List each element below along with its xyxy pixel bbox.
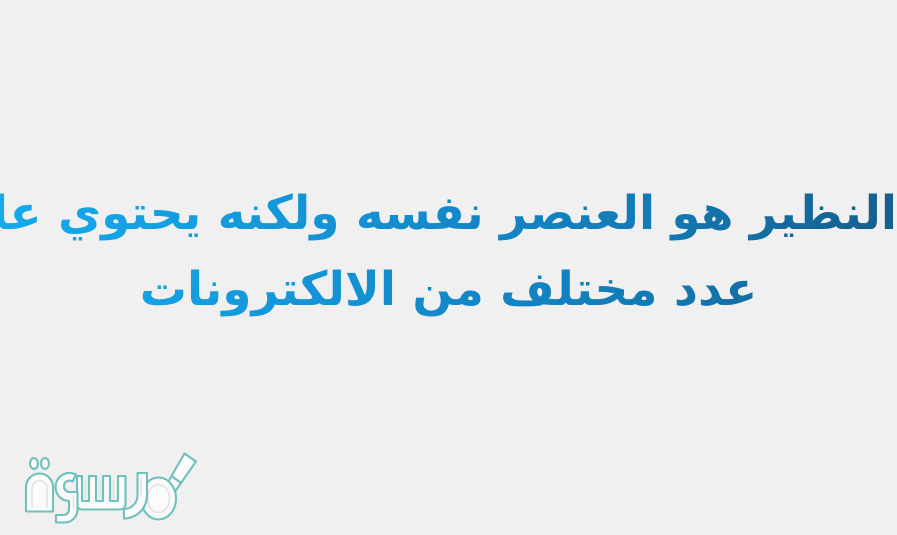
site-logo[interactable] (8, 443, 218, 527)
headline-block: النظير هو العنصر نفسه ولكنه يحتوي على عد… (0, 176, 897, 328)
logo-letter-meem (141, 454, 196, 520)
mawsuah-logo-icon (8, 443, 218, 527)
logo-dot-right (41, 458, 49, 469)
logo-letter-waw (124, 473, 147, 519)
headline-line-2: عدد مختلف من الالكترونات (0, 252, 897, 328)
logo-letter-taa-marbuta (26, 458, 53, 512)
page-canvas: النظير هو العنصر نفسه ولكنه يحتوي على عد… (0, 0, 897, 535)
logo-dot-left (30, 458, 38, 469)
headline-line-1: النظير هو العنصر نفسه ولكنه يحتوي على (0, 176, 897, 252)
logo-letter-seen (77, 476, 126, 510)
logo-letter-ain (55, 473, 77, 523)
